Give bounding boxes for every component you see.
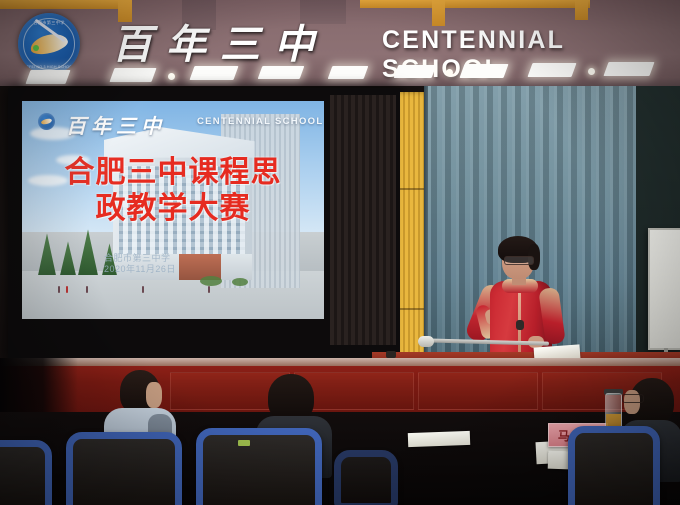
presenter-eyeglasses-icon	[504, 256, 534, 265]
slide-header-chinese: 百年三中	[66, 110, 166, 139]
ceiling-light-panel	[328, 66, 369, 79]
microphone-icon	[418, 336, 434, 347]
ceiling-gold-trim	[360, 0, 590, 8]
ceiling-light-panel	[25, 70, 70, 84]
photo-scene: 合肥市第三中学 HEFEI NO.3 HIGH SCHOOL 百年三中 CENT…	[0, 0, 680, 505]
presenter-lanyard-badge	[516, 320, 524, 330]
ceiling-spot-light	[588, 68, 595, 75]
slide-figure	[86, 286, 88, 293]
auditorium-chair[interactable]	[568, 426, 660, 505]
slide-title-line-2: 政教学大赛	[22, 191, 324, 227]
ceiling-light-panel	[109, 68, 156, 82]
slide-figure	[142, 286, 144, 293]
ceiling-light-panel	[394, 65, 437, 78]
emblem-text-bottom: HEFEI NO.3 HIGH SCHOOL	[18, 65, 80, 69]
slide-figure	[66, 286, 68, 293]
ceiling-light-panel	[603, 62, 654, 76]
ceiling-light-panel	[527, 63, 576, 77]
ceiling-spot-light	[446, 69, 453, 76]
ceiling-gold-trim	[0, 0, 130, 9]
ceiling-light-panel	[258, 66, 305, 79]
slide-footer-school: 合肥市第三中学	[104, 253, 176, 264]
slide-title-line-1: 合肥三中课程思	[22, 155, 324, 191]
slide-main-title: 合肥三中课程思 政教学大赛	[22, 155, 324, 227]
ceiling-light-panel	[189, 66, 238, 80]
wall-dark-slat-panel	[330, 95, 396, 345]
slide-school-emblem-icon	[38, 113, 55, 130]
auditorium-chair[interactable]	[196, 428, 322, 505]
hall-banner-chinese-title: 百年三中	[112, 12, 328, 70]
school-emblem-icon: 合肥市第三中学 HEFEI NO.3 HIGH SCHOOL	[18, 13, 80, 75]
stage-panel-section	[418, 372, 538, 410]
ceiling-gold-trim	[432, 0, 445, 26]
slide-footer: 合肥市第三中学 2020年11月26日	[104, 253, 176, 275]
slide-footer-date: 2020年11月26日	[104, 264, 176, 275]
auditorium-chair[interactable]	[66, 432, 182, 505]
hall-ceiling-banner: 合肥市第三中学 HEFEI NO.3 HIGH SCHOOL 百年三中 CENT…	[0, 0, 680, 88]
desk-small-object	[386, 351, 396, 358]
projection-slide: 百年三中 CENTENNIAL SCHOOL 合肥三中课程思 政教学大赛 合肥市…	[22, 101, 324, 319]
attendee-face	[146, 382, 162, 408]
attendee-eyeglasses-icon	[622, 394, 644, 403]
auditorium-chair[interactable]	[0, 440, 52, 505]
ceiling-gold-trim	[575, 0, 588, 20]
slide-header-english: CENTENNIAL SCHOOL	[197, 116, 323, 127]
slide-figure	[58, 286, 60, 293]
paper-documents	[408, 431, 470, 447]
emblem-dot	[33, 45, 39, 51]
ceiling-spot-light	[168, 73, 175, 80]
auditorium-chair[interactable]	[334, 450, 398, 505]
ceiling-light-panel	[459, 64, 508, 78]
attendee-hair	[268, 374, 314, 422]
whiteboard-easel	[648, 228, 680, 350]
emblem-text-top: 合肥市第三中学	[18, 20, 80, 26]
slide-figure	[208, 286, 210, 293]
stage-left-shadow	[0, 358, 78, 414]
chair-seat-tag	[238, 440, 250, 446]
